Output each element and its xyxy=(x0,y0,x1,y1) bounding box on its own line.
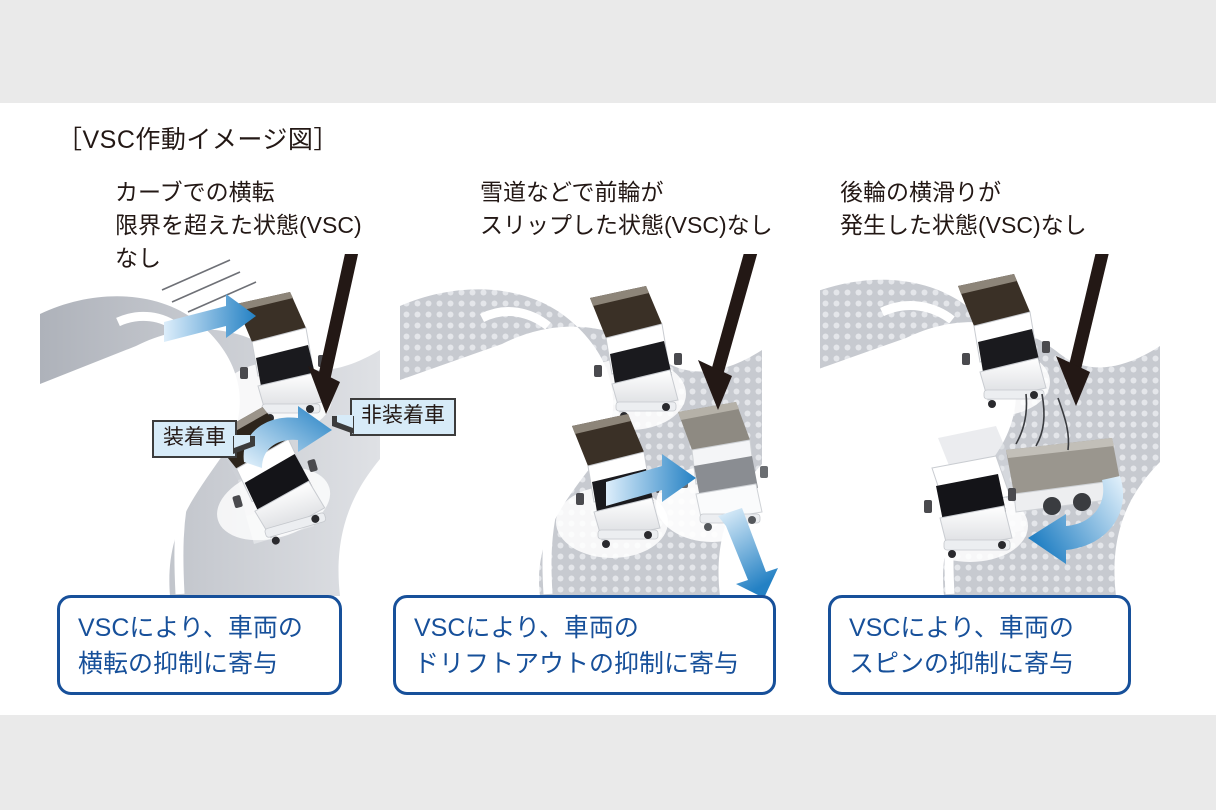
panel-heading-driftout: 雪道などで前輪が スリップした状態(VSC)なし xyxy=(480,176,773,242)
top-gray-band xyxy=(0,0,1216,103)
callout-equipped-label: 装着車 xyxy=(163,426,226,449)
scene-spin xyxy=(820,254,1160,596)
panel-driftout: 雪道などで前輪が スリップした状態(VSC)なし xyxy=(390,176,790,596)
panel-spin: 後輪の横滑りが 発生した状態(VSC)なし xyxy=(820,176,1160,596)
truck-normal-upper xyxy=(574,286,686,430)
callout-tail-inner-icon xyxy=(337,415,353,428)
callout-equipped-vehicle: 装着車 xyxy=(152,420,237,458)
caption-spin: VSCにより、車両の スピンの抑制に寄与 xyxy=(828,595,1131,695)
caption-driftout: VSCにより、車両の ドリフトアウトの抑制に寄与 xyxy=(393,595,776,695)
panel-rollover: カーブでの横転 限界を超えた状態(VSC)なし xyxy=(40,176,380,596)
callout-tail-inner-icon xyxy=(234,435,250,448)
bottom-gray-band xyxy=(0,715,1216,810)
scene-driftout xyxy=(390,254,790,596)
panel-heading-spin: 後輪の横滑りが 発生した状態(VSC)なし xyxy=(840,176,1087,242)
caption-rollover: VSCにより、車両の 横転の抑制に寄与 xyxy=(57,595,342,695)
truck-normal-upper xyxy=(942,274,1050,416)
page-title: ［VSC作動イメージ図］ xyxy=(57,120,339,156)
